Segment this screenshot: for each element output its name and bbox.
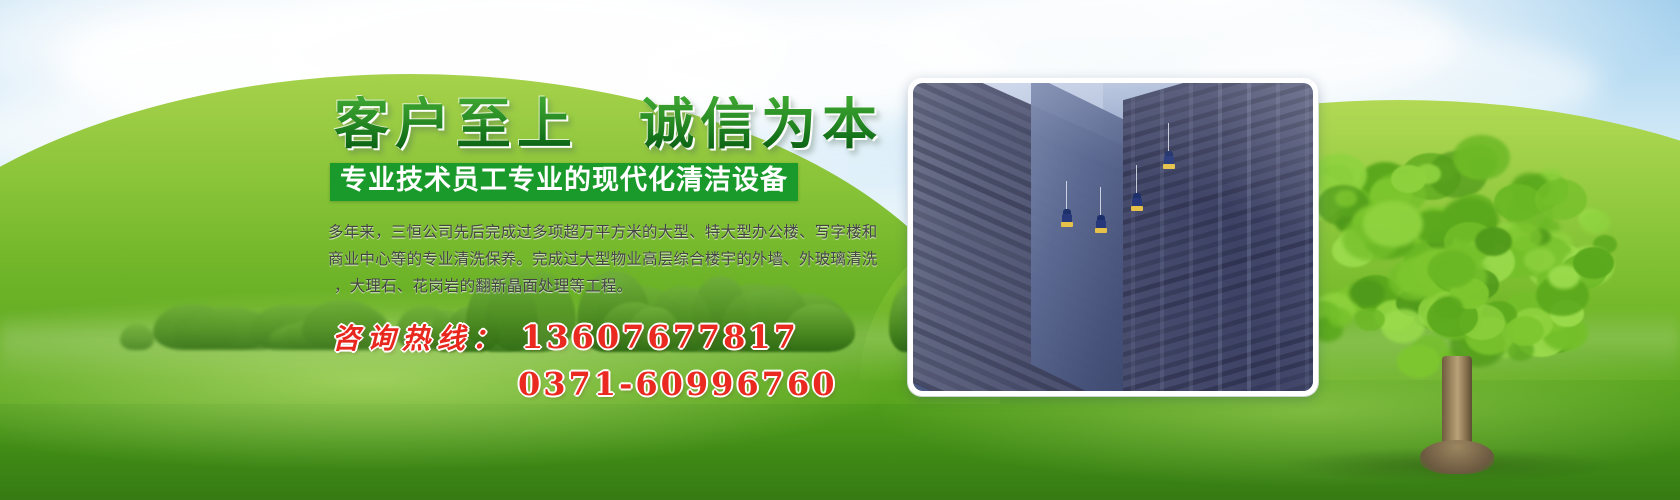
subtitle-bar: 专业技术员工专业的现代化清洁设备	[330, 163, 798, 201]
banner-text-block: 客户至上 诚信为本 专业技术员工专业的现代化清洁设备 多年来，三恒公司先后完成过…	[326, 96, 906, 403]
paragraph-line: ，大理石、花岗岩的翻新晶面处理等工程。	[328, 273, 906, 300]
window-cleaner-worker	[1163, 151, 1175, 171]
foliage-blob	[1475, 227, 1512, 256]
hotline-label: 咨询热线：	[332, 317, 507, 357]
building-photo	[913, 83, 1313, 391]
page-title: 客户至上 诚信为本	[334, 96, 906, 151]
building-facade-right	[1123, 83, 1313, 391]
foliage-blob	[1363, 201, 1423, 248]
foliage-blob	[1434, 296, 1463, 319]
window-cleaner-worker	[1095, 215, 1107, 235]
vertical-mullion	[1276, 83, 1280, 391]
vertical-mullion	[1131, 97, 1135, 391]
foliage-blob	[1428, 250, 1476, 288]
foliage-blob	[1580, 210, 1610, 234]
hotline-landline-number[interactable]: 0371-60996760	[518, 365, 837, 403]
foliage-blob	[1328, 308, 1353, 327]
subtitle-text: 专业技术员工专业的现代化清洁设备	[340, 167, 788, 195]
window-cleaner-worker	[1061, 209, 1073, 229]
promo-banner: 客户至上 诚信为本 专业技术员工专业的现代化清洁设备 多年来，三恒公司先后完成过…	[0, 0, 1680, 500]
foliage-blob	[1535, 179, 1587, 220]
foliage-blob	[1381, 309, 1425, 344]
window-cleaner-worker	[1131, 193, 1143, 213]
foliage-blob	[1573, 247, 1614, 279]
worker-seat	[1095, 228, 1107, 233]
treeline-blob	[120, 324, 154, 350]
landline-row: 0371-60996760	[332, 365, 906, 403]
vertical-mullion	[1189, 83, 1193, 391]
vertical-mullion	[1218, 83, 1222, 391]
foliage-blob	[1391, 165, 1426, 192]
paragraph-line: 商业中心等的专业清洗保养。完成过大型物业高层综合楼宇的外墙、外玻璃清洗	[328, 246, 906, 273]
foliage-blob	[1335, 190, 1357, 207]
foliage-blob	[1397, 345, 1440, 378]
description-paragraph: 多年来，三恒公司先后完成过多项超万平方米的大型、特大型办公楼、写字楼和 商业中心…	[328, 219, 906, 299]
rope-line	[1168, 123, 1169, 153]
tree-illustration	[1270, 144, 1622, 474]
vertical-mullion	[1160, 89, 1164, 391]
rope-line	[1100, 187, 1101, 217]
worker-seat	[1163, 164, 1175, 169]
vertical-mullion	[1247, 83, 1251, 391]
foliage-blob	[1453, 135, 1511, 180]
paragraph-line: 多年来，三恒公司先后完成过多项超万平方米的大型、特大型办公楼、写字楼和	[328, 219, 906, 246]
contact-block: 咨询热线： 13607677817 0371-60996760	[332, 317, 906, 403]
rope-line	[1066, 181, 1067, 211]
rope-line	[1136, 165, 1137, 195]
building-photo-frame[interactable]	[908, 78, 1318, 396]
vertical-mullion	[1305, 83, 1309, 391]
hotline-mobile-number[interactable]: 13607677817	[521, 318, 799, 356]
worker-seat	[1131, 206, 1143, 211]
hotline-row: 咨询热线： 13607677817	[332, 317, 906, 357]
tree-trunk	[1442, 356, 1472, 474]
worker-seat	[1061, 222, 1073, 227]
